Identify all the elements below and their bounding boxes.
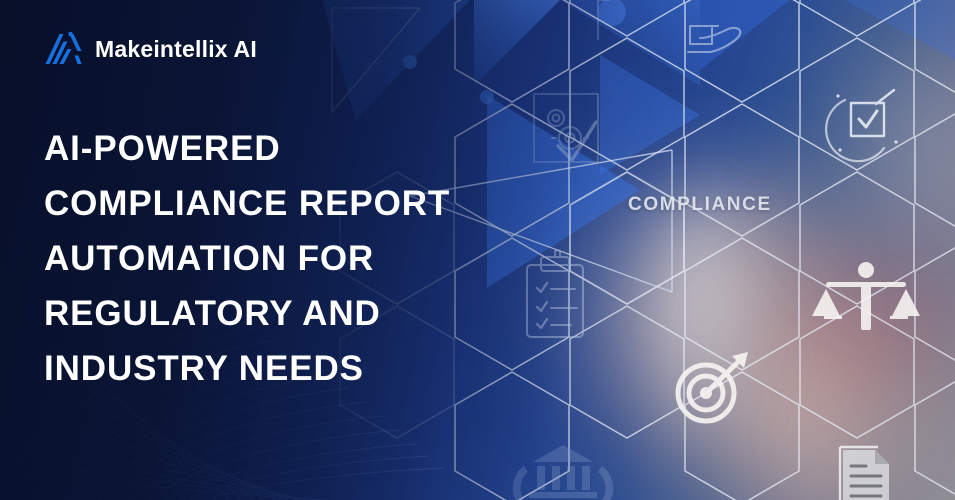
headline-line-3: AUTOMATION FOR bbox=[44, 231, 514, 286]
compliance-hex-label: COMPLIANCE bbox=[628, 194, 772, 216]
headline-line-4: REGULATORY AND bbox=[44, 286, 514, 341]
promo-banner: COMPLIANCE Makeintellix AI AI-POWERED CO… bbox=[0, 0, 955, 500]
headline-line-2: COMPLIANCE REPORT bbox=[44, 176, 514, 231]
page-title: AI-POWERED COMPLIANCE REPORT AUTOMATION … bbox=[44, 121, 514, 396]
brand-logo[interactable]: Makeintellix AI bbox=[44, 32, 257, 66]
headline-line-5: INDUSTRY NEEDS bbox=[44, 341, 514, 396]
headline-line-1: AI-POWERED bbox=[44, 121, 514, 176]
makeintellix-a-mark-icon bbox=[44, 32, 82, 66]
brand-name: Makeintellix AI bbox=[95, 36, 257, 63]
